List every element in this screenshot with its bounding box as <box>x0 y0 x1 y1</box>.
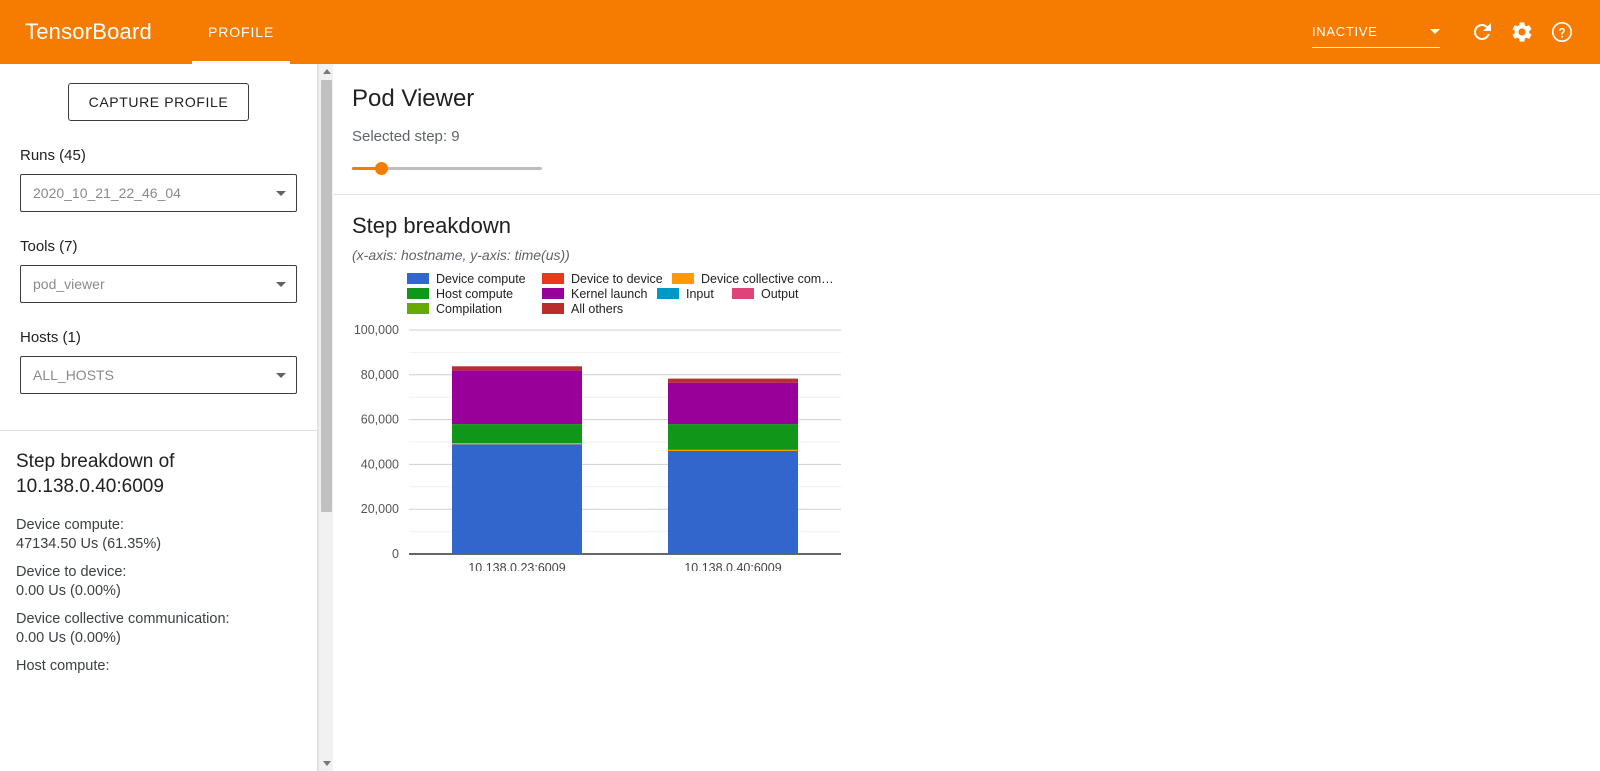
tools-field: Tools (7) pod_viewer <box>0 238 317 303</box>
detail-title: Step breakdown of 10.138.0.40:6009 <box>16 449 301 499</box>
detail-key: Host compute: <box>16 658 301 674</box>
detail-value: 0.00 Us (0.00%) <box>16 630 301 646</box>
left-sidebar: CAPTURE PROFILE Runs (45) 2020_10_21_22_… <box>0 64 318 771</box>
y-axis-tick-label: 80,000 <box>361 368 399 382</box>
runs-select[interactable]: 2020_10_21_22_46_04 <box>20 174 297 212</box>
detail-value: 47134.50 Us (61.35%) <box>16 536 301 552</box>
step-slider[interactable] <box>352 161 542 175</box>
status-dropdown-value: INACTIVE <box>1312 24 1378 39</box>
top-app-bar: TensorBoard PROFILE INACTIVE <box>0 0 1600 64</box>
tools-select-value: pod_viewer <box>33 276 105 292</box>
tools-label: Tools (7) <box>20 238 297 255</box>
runs-select-value: 2020_10_21_22_46_04 <box>33 185 181 201</box>
bar-segment[interactable] <box>452 443 582 444</box>
selected-step-label: Selected step: 9 <box>352 128 1600 145</box>
detail-item: Device to device: 0.00 Us (0.00%) <box>16 564 301 599</box>
y-axis-tick-label: 100,000 <box>354 323 399 337</box>
bar-segment[interactable] <box>452 370 582 424</box>
chevron-down-icon <box>323 761 331 766</box>
page-title: Pod Viewer <box>352 85 1600 113</box>
bar-segment[interactable] <box>668 383 798 424</box>
chevron-up-icon <box>323 69 331 74</box>
card-subtitle: (x-axis: hostname, y-axis: time(us)) <box>352 247 1600 263</box>
bar-segment[interactable] <box>668 424 798 450</box>
hosts-select[interactable]: ALL_HOSTS <box>20 356 297 394</box>
nav-tabs: PROFILE <box>192 0 290 64</box>
help-icon <box>1550 20 1574 44</box>
x-axis-tick-label: 10.138.0.23:6009 <box>468 561 565 571</box>
tab-profile-label: PROFILE <box>208 24 274 40</box>
runs-field: Runs (45) 2020_10_21_22_46_04 <box>0 147 317 212</box>
scroll-down-button[interactable] <box>319 756 334 771</box>
settings-button[interactable] <box>1502 12 1542 52</box>
step-breakdown-chart: Device compute Device to device Device c… <box>352 271 1252 571</box>
tools-select[interactable]: pod_viewer <box>20 265 297 303</box>
y-axis-tick-label: 40,000 <box>361 457 399 471</box>
detail-item: Device compute: 47134.50 Us (61.35%) <box>16 517 301 552</box>
main-content: Pod Viewer Selected step: 9 Step breakdo… <box>334 64 1600 771</box>
step-slider-row <box>352 161 1600 175</box>
detail-item: Device collective communication: 0.00 Us… <box>16 611 301 646</box>
refresh-button[interactable] <box>1462 12 1502 52</box>
bar-segment[interactable] <box>452 366 582 370</box>
scroll-up-button[interactable] <box>319 64 334 79</box>
y-axis-tick-label: 20,000 <box>361 502 399 516</box>
detail-key: Device to device: <box>16 564 301 580</box>
refresh-icon <box>1470 20 1494 44</box>
bar-segment[interactable] <box>668 451 798 554</box>
y-axis-tick-label: 0 <box>392 547 399 561</box>
detail-key: Device compute: <box>16 517 301 533</box>
capture-profile-button[interactable]: CAPTURE PROFILE <box>68 83 250 121</box>
step-breakdown-detail: Step breakdown of 10.138.0.40:6009 Devic… <box>0 431 317 674</box>
appbar-actions: INACTIVE <box>1312 12 1582 52</box>
runs-label: Runs (45) <box>20 147 297 164</box>
detail-value: 0.00 Us (0.00%) <box>16 583 301 599</box>
detail-key: Device collective communication: <box>16 611 301 627</box>
hosts-label: Hosts (1) <box>20 329 297 346</box>
help-button[interactable] <box>1542 12 1582 52</box>
bar-segment[interactable] <box>668 450 798 451</box>
chevron-down-icon <box>1430 29 1440 34</box>
chevron-down-icon <box>276 282 286 287</box>
bar-segment[interactable] <box>452 424 582 443</box>
hosts-select-value: ALL_HOSTS <box>33 367 114 383</box>
scrollbar-thumb[interactable] <box>321 80 332 512</box>
chevron-down-icon <box>276 191 286 196</box>
chart-plot-area: 020,00040,00060,00080,000100,00010.138.0… <box>352 271 1252 571</box>
detail-item: Host compute: <box>16 658 301 674</box>
gear-icon <box>1510 20 1534 44</box>
chevron-down-icon <box>276 373 286 378</box>
bar-segment[interactable] <box>452 444 582 554</box>
status-dropdown[interactable]: INACTIVE <box>1312 16 1440 48</box>
card-title: Step breakdown <box>352 213 1600 239</box>
capture-profile-row: CAPTURE PROFILE <box>0 64 317 121</box>
chart-svg: 020,00040,00060,00080,000100,00010.138.0… <box>352 271 1252 571</box>
tab-profile[interactable]: PROFILE <box>192 0 290 64</box>
x-axis-tick-label: 10.138.0.40:6009 <box>684 561 781 571</box>
y-axis-tick-label: 60,000 <box>361 413 399 427</box>
bar-segment[interactable] <box>668 379 798 383</box>
hosts-field: Hosts (1) ALL_HOSTS <box>0 329 317 394</box>
sidebar-scrollbar[interactable] <box>318 64 333 771</box>
step-breakdown-card: Step breakdown (x-axis: hostname, y-axis… <box>334 195 1600 571</box>
slider-thumb[interactable] <box>375 162 388 175</box>
app-brand: TensorBoard <box>25 19 152 45</box>
